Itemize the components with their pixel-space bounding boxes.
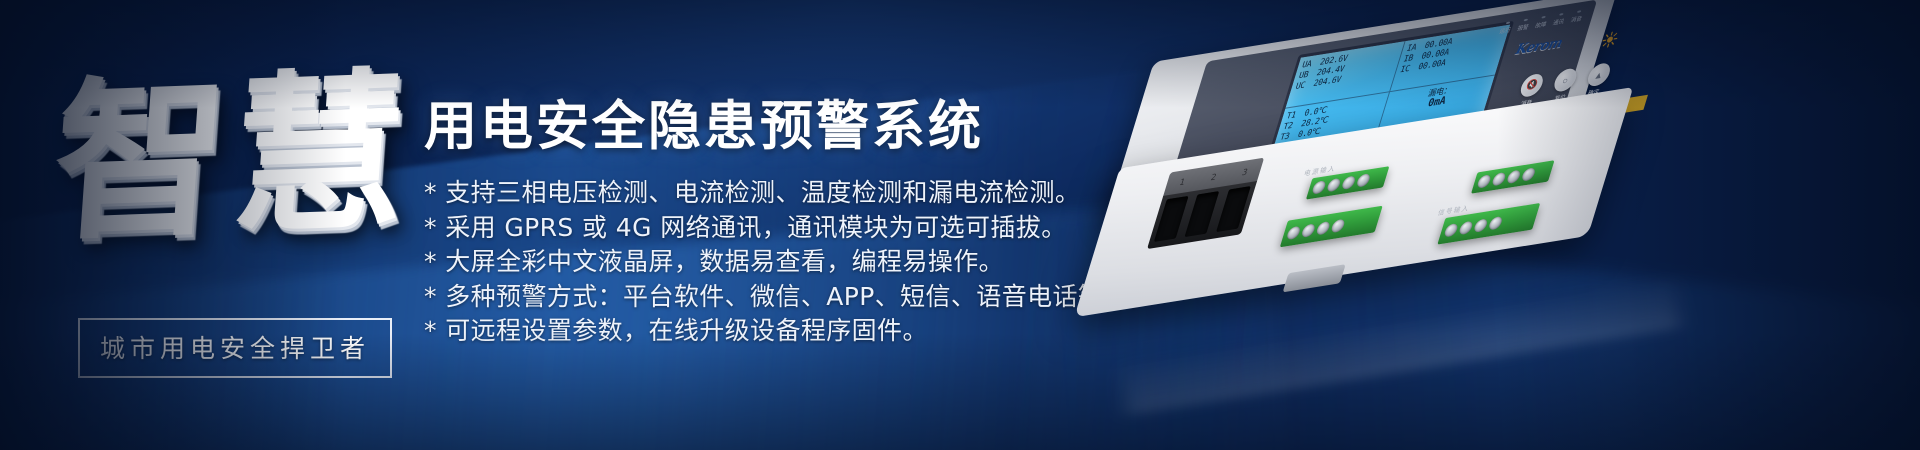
- lcd-uc-label: UC: [1294, 79, 1312, 92]
- terminal-screw-icon: [1458, 220, 1474, 235]
- list-item: * 多种预警方式：平台软件、微信、APP、短信、语音电话等等。: [424, 282, 1154, 311]
- lcd-ic-label: IC: [1399, 63, 1417, 76]
- terminal-screw-icon: [1341, 175, 1357, 190]
- led-indicator-icon: [1559, 13, 1564, 16]
- list-item: * 采用 GPRS 或 4G 网络通讯，通讯模块为可选可插拔。: [424, 213, 1154, 242]
- calligraphy-text: 智慧: [48, 64, 417, 248]
- terminal-screw-icon: [1311, 180, 1327, 195]
- led-indicator-icon: [1523, 19, 1528, 22]
- connector-pin-3: 3: [1241, 167, 1249, 177]
- tagline-text: 城市用电安全捍卫者: [100, 334, 370, 363]
- tagline-box: 城市用电安全捍卫者: [78, 318, 392, 378]
- terminal-screw-icon: [1473, 218, 1489, 233]
- connector-pin-2: 2: [1210, 172, 1218, 182]
- terminal-screw-icon: [1356, 173, 1372, 188]
- list-item: * 大屏全彩中文液晶屏，数据易查看，编程易操作。: [424, 247, 1154, 276]
- terminal-screw-icon: [1301, 223, 1317, 238]
- terminal-screw-icon: [1488, 215, 1504, 230]
- confirm-icon: ▲: [1585, 62, 1613, 88]
- calligraphy-wordmark: 智慧: [68, 24, 398, 289]
- led-indicator-icon: [1541, 16, 1546, 19]
- promo-banner: 智慧 城市用电安全捍卫者 用电安全隐患预警系统 * 支持三相电压检测、电流检测、…: [0, 0, 1920, 450]
- terminal-screw-icon: [1506, 169, 1522, 184]
- list-item: * 支持三相电压检测、电流检测、温度检测和漏电流检测。: [424, 178, 1154, 207]
- reset-icon: ○: [1552, 67, 1580, 93]
- product-device: UA202.6V UB204.4V UC204.6V IA00.00A IB00…: [1058, 0, 1727, 414]
- terminal-screw-icon: [1326, 178, 1342, 193]
- terminal-screw-icon: [1443, 222, 1459, 237]
- status-led-mute: 消音: [1570, 10, 1585, 24]
- terminal-screw-icon: [1521, 167, 1537, 182]
- terminal-screw-icon: [1491, 172, 1507, 187]
- terminal-screw-icon: [1315, 220, 1331, 235]
- led-indicator-icon: [1576, 10, 1581, 13]
- connector-socket: [1185, 191, 1220, 237]
- terminal-screw-icon: [1330, 218, 1346, 233]
- page-title: 用电安全隐患预警系统: [424, 84, 984, 160]
- terminal-screw-icon: [1286, 225, 1302, 240]
- status-led-comm: 通讯: [1552, 13, 1567, 27]
- status-led-fault: 故障: [1534, 15, 1549, 29]
- terminal-screw-icon: [1476, 174, 1492, 189]
- feature-list: * 支持三相电压检测、电流检测、温度检测和漏电流检测。 * 采用 GPRS 或 …: [424, 178, 1154, 351]
- list-item: * 可远程设置参数，在线升级设备程序固件。: [424, 316, 1154, 345]
- connector-pin-1: 1: [1178, 177, 1186, 187]
- led-indicator-icon: [1505, 22, 1510, 25]
- status-led-alarm: 报警: [1516, 18, 1531, 32]
